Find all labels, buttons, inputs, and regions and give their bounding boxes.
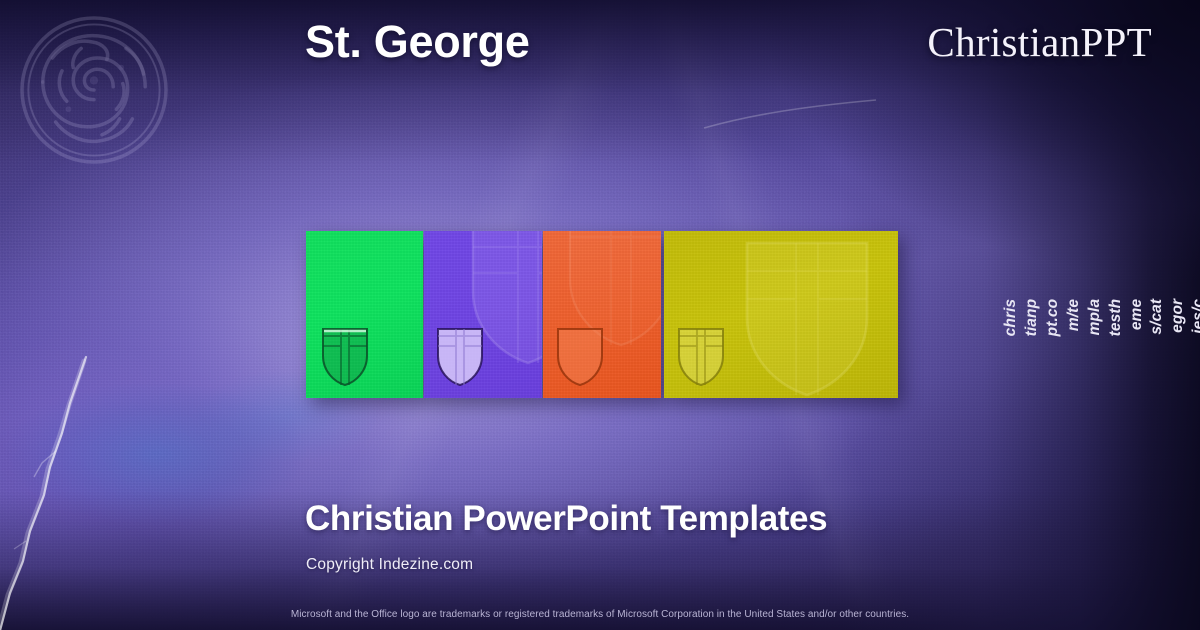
shield-with-cross-icon <box>676 326 726 388</box>
shield-plain-icon <box>555 326 605 388</box>
thumbnail-panel-green[interactable] <box>306 231 423 398</box>
thumbnail-panel-purple[interactable] <box>424 231 542 398</box>
brand-logo: ChristianPPT <box>927 18 1152 66</box>
vertical-url-bar: christianppt.com/templatesthemes/categor… <box>1157 0 1200 630</box>
vertical-url-text: christianppt.com/templatesthemes/categor… <box>1001 293 1200 337</box>
template-thumbnail-strip <box>306 231 898 398</box>
shield-watermark-large-icon <box>742 239 872 398</box>
page-title: St. George <box>305 16 530 68</box>
shield-with-cross-icon <box>320 326 370 388</box>
thumbnail-panel-orange[interactable] <box>543 231 661 398</box>
thumbnail-panel-yellow[interactable] <box>664 231 898 398</box>
legal-notice: Microsoft and the Office logo are tradem… <box>0 609 1200 620</box>
copyright-text: Copyright Indezine.com <box>306 556 473 574</box>
poster-canvas: St. George ChristianPPT christianppt.com… <box>0 0 1200 630</box>
subtitle: Christian PowerPoint Templates <box>305 499 827 539</box>
shield-with-cross-icon <box>435 326 485 388</box>
